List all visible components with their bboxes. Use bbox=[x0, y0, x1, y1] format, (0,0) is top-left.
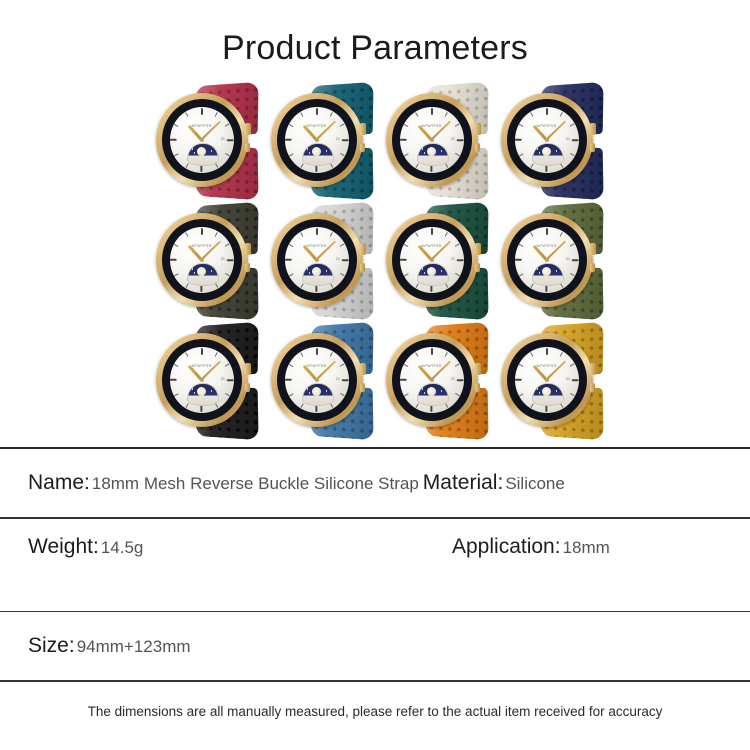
watch-case: MTWTFSS20 bbox=[271, 93, 363, 187]
watch-case: MTWTFSS20 bbox=[271, 333, 363, 427]
moon-phase-icon bbox=[417, 383, 449, 406]
spec-cell-size: Size: 94mm+123mm bbox=[28, 634, 191, 658]
dial-date-label: 20 bbox=[336, 377, 340, 381]
spec-cell-name: Name: 18mm Mesh Reverse Buckle Silicone … bbox=[28, 471, 419, 495]
dial-date-label: 20 bbox=[566, 377, 570, 381]
spec-divider-bottom bbox=[0, 680, 750, 682]
moon-phase-icon bbox=[187, 263, 219, 286]
watch-case: MTWTFSS20 bbox=[386, 333, 478, 427]
watch-dial: MTWTFSS20 bbox=[400, 227, 464, 293]
spec-label-material: Material: bbox=[423, 471, 504, 495]
watch-bezel: MTWTFSS20 bbox=[162, 219, 242, 301]
watch-swatch-mustard-yellow[interactable]: MTWTFSS20 bbox=[497, 323, 609, 439]
spec-label-application: Application: bbox=[452, 535, 561, 559]
spec-label-size: Size: bbox=[28, 634, 75, 658]
moon-disc bbox=[312, 267, 321, 276]
hands-pin bbox=[200, 378, 204, 382]
watch-swatch-crimson-red[interactable]: MTWTFSS20 bbox=[152, 83, 264, 199]
side-button[interactable] bbox=[475, 263, 480, 272]
crown-button[interactable] bbox=[590, 123, 596, 135]
watch-dial: MTWTFSS20 bbox=[515, 347, 579, 413]
side-button[interactable] bbox=[245, 263, 250, 272]
side-button[interactable] bbox=[590, 263, 595, 272]
moon-disc bbox=[312, 147, 321, 156]
watch-dial: MTWTFSS20 bbox=[285, 227, 349, 293]
crown-button[interactable] bbox=[475, 123, 481, 135]
dial-weekday-label: MTWTFSS bbox=[515, 244, 579, 248]
watch-swatch-teal[interactable]: MTWTFSS20 bbox=[267, 83, 379, 199]
hands-pin bbox=[430, 258, 434, 262]
spec-label-weight: Weight: bbox=[28, 535, 99, 559]
watch-bezel: MTWTFSS20 bbox=[277, 99, 357, 181]
hands-pin bbox=[200, 138, 204, 142]
watch-dial: MTWTFSS20 bbox=[285, 107, 349, 173]
moon-phase-icon bbox=[187, 383, 219, 406]
watch-dial: MTWTFSS20 bbox=[170, 227, 234, 293]
crown-button[interactable] bbox=[360, 363, 366, 375]
watch-bezel: MTWTFSS20 bbox=[162, 339, 242, 421]
moon-phase-icon bbox=[302, 383, 334, 406]
measurement-disclaimer: The dimensions are all manually measured… bbox=[0, 704, 750, 719]
moon-disc bbox=[542, 267, 551, 276]
watch-bezel: MTWTFSS20 bbox=[507, 99, 587, 181]
watch-bezel: MTWTFSS20 bbox=[507, 219, 587, 301]
moon-disc bbox=[312, 387, 321, 396]
spec-cell-weight: Weight: 14.5g bbox=[28, 535, 143, 559]
watch-bezel: MTWTFSS20 bbox=[392, 339, 472, 421]
crown-button[interactable] bbox=[475, 243, 481, 255]
dial-weekday-label: MTWTFSS bbox=[515, 124, 579, 128]
dial-weekday-label: MTWTFSS bbox=[400, 364, 464, 368]
side-button[interactable] bbox=[475, 383, 480, 392]
watch-dial: MTWTFSS20 bbox=[170, 107, 234, 173]
watch-swatch-forest-green[interactable]: MTWTFSS20 bbox=[382, 203, 494, 319]
watch-case: MTWTFSS20 bbox=[501, 333, 593, 427]
watch-bezel: MTWTFSS20 bbox=[162, 99, 242, 181]
hands-pin bbox=[200, 258, 204, 262]
side-button[interactable] bbox=[475, 143, 480, 152]
dial-weekday-label: MTWTFSS bbox=[400, 124, 464, 128]
side-button[interactable] bbox=[590, 383, 595, 392]
moon-phase-icon bbox=[302, 263, 334, 286]
hands-pin bbox=[315, 378, 319, 382]
side-button[interactable] bbox=[360, 263, 365, 272]
watch-bezel: MTWTFSS20 bbox=[392, 219, 472, 301]
moon-phase-icon bbox=[302, 143, 334, 166]
hands-pin bbox=[430, 378, 434, 382]
watch-bezel: MTWTFSS20 bbox=[277, 339, 357, 421]
hands-pin bbox=[315, 258, 319, 262]
moon-disc bbox=[197, 387, 206, 396]
spec-value-weight: 14.5g bbox=[101, 538, 144, 558]
dial-weekday-label: MTWTFSS bbox=[170, 364, 234, 368]
watch-swatch-black[interactable]: MTWTFSS20 bbox=[152, 323, 264, 439]
moon-phase-icon bbox=[532, 263, 564, 286]
moon-disc bbox=[427, 267, 436, 276]
moon-phase-icon bbox=[187, 143, 219, 166]
hands-pin bbox=[545, 258, 549, 262]
watch-case: MTWTFSS20 bbox=[156, 93, 248, 187]
side-button[interactable] bbox=[590, 143, 595, 152]
watch-case: MTWTFSS20 bbox=[386, 213, 478, 307]
spec-value-material: Silicone bbox=[505, 474, 565, 494]
side-button[interactable] bbox=[360, 383, 365, 392]
watch-dial: MTWTFSS20 bbox=[515, 107, 579, 173]
moon-disc bbox=[427, 387, 436, 396]
crown-button[interactable] bbox=[475, 363, 481, 375]
product-parameters-page: Product Parameters MTWTFSS20MTWTFSS20MTW… bbox=[0, 0, 750, 750]
dial-date-label: 20 bbox=[336, 257, 340, 261]
dial-date-label: 20 bbox=[221, 257, 225, 261]
watch-case: MTWTFSS20 bbox=[386, 93, 478, 187]
dial-date-label: 20 bbox=[451, 137, 455, 141]
watch-swatch-dark-olive[interactable]: MTWTFSS20 bbox=[152, 203, 264, 319]
dial-weekday-label: MTWTFSS bbox=[170, 244, 234, 248]
dial-date-label: 20 bbox=[336, 137, 340, 141]
hands-pin bbox=[545, 138, 549, 142]
page-title: Product Parameters bbox=[0, 30, 750, 67]
dial-date-label: 20 bbox=[566, 137, 570, 141]
moon-phase-icon bbox=[532, 143, 564, 166]
hands-pin bbox=[545, 378, 549, 382]
side-button[interactable] bbox=[245, 143, 250, 152]
side-button[interactable] bbox=[245, 383, 250, 392]
spec-row-size: Size: 94mm+123mm bbox=[0, 612, 750, 680]
watch-case: MTWTFSS20 bbox=[156, 213, 248, 307]
dial-weekday-label: MTWTFSS bbox=[285, 364, 349, 368]
dial-weekday-label: MTWTFSS bbox=[400, 244, 464, 248]
watch-swatch-navy-blue[interactable]: MTWTFSS20 bbox=[497, 83, 609, 199]
dial-date-label: 20 bbox=[451, 257, 455, 261]
watch-swatch-ivory-beige[interactable]: MTWTFSS20 bbox=[382, 83, 494, 199]
moon-phase-icon bbox=[417, 263, 449, 286]
moon-disc bbox=[197, 147, 206, 156]
dial-weekday-label: MTWTFSS bbox=[515, 364, 579, 368]
crown-button[interactable] bbox=[590, 243, 596, 255]
spec-cell-material: Material: Silicone bbox=[423, 471, 565, 495]
watch-dial: MTWTFSS20 bbox=[515, 227, 579, 293]
watch-bezel: MTWTFSS20 bbox=[507, 339, 587, 421]
crown-button[interactable] bbox=[590, 363, 596, 375]
dial-weekday-label: MTWTFSS bbox=[285, 244, 349, 248]
watch-dial: MTWTFSS20 bbox=[400, 347, 464, 413]
watch-swatch-army-green[interactable]: MTWTFSS20 bbox=[497, 203, 609, 319]
moon-disc bbox=[427, 147, 436, 156]
dial-date-label: 20 bbox=[451, 377, 455, 381]
dial-weekday-label: MTWTFSS bbox=[285, 124, 349, 128]
spec-value-application: 18mm bbox=[563, 538, 610, 558]
dial-date-label: 20 bbox=[566, 257, 570, 261]
moon-disc bbox=[542, 147, 551, 156]
moon-disc bbox=[197, 267, 206, 276]
spec-label-name: Name: bbox=[28, 471, 90, 495]
dial-date-label: 20 bbox=[221, 377, 225, 381]
crown-button[interactable] bbox=[245, 363, 251, 375]
crown-button[interactable] bbox=[245, 123, 251, 135]
moon-phase-icon bbox=[532, 383, 564, 406]
watch-case: MTWTFSS20 bbox=[156, 333, 248, 427]
watch-dial: MTWTFSS20 bbox=[170, 347, 234, 413]
spec-value-size: 94mm+123mm bbox=[77, 637, 191, 657]
crown-button[interactable] bbox=[360, 123, 366, 135]
watch-bezel: MTWTFSS20 bbox=[277, 219, 357, 301]
spec-cell-application: Application: 18mm bbox=[452, 535, 610, 559]
spec-table: Name: 18mm Mesh Reverse Buckle Silicone … bbox=[0, 447, 750, 682]
hands-pin bbox=[430, 138, 434, 142]
spec-row-name: Name: 18mm Mesh Reverse Buckle Silicone … bbox=[0, 449, 750, 517]
watch-case: MTWTFSS20 bbox=[271, 213, 363, 307]
watch-swatch-light-gray[interactable]: MTWTFSS20 bbox=[267, 203, 379, 319]
spec-row-weight: Weight: 14.5g Application: 18mm bbox=[0, 519, 750, 611]
watch-case: MTWTFSS20 bbox=[501, 93, 593, 187]
watch-dial: MTWTFSS20 bbox=[285, 347, 349, 413]
dial-date-label: 20 bbox=[221, 137, 225, 141]
crown-button[interactable] bbox=[245, 243, 251, 255]
spec-value-name: 18mm Mesh Reverse Buckle Silicone Strap bbox=[92, 474, 419, 494]
watch-swatch-orange[interactable]: MTWTFSS20 bbox=[382, 323, 494, 439]
watch-bezel: MTWTFSS20 bbox=[392, 99, 472, 181]
moon-disc bbox=[542, 387, 551, 396]
dial-weekday-label: MTWTFSS bbox=[170, 124, 234, 128]
hands-pin bbox=[315, 138, 319, 142]
watch-color-gallery: MTWTFSS20MTWTFSS20MTWTFSS20MTWTFSS20MTWT… bbox=[0, 81, 750, 441]
side-button[interactable] bbox=[360, 143, 365, 152]
crown-button[interactable] bbox=[360, 243, 366, 255]
watch-swatch-steel-blue[interactable]: MTWTFSS20 bbox=[267, 323, 379, 439]
watch-dial: MTWTFSS20 bbox=[400, 107, 464, 173]
moon-phase-icon bbox=[417, 143, 449, 166]
watch-case: MTWTFSS20 bbox=[501, 213, 593, 307]
